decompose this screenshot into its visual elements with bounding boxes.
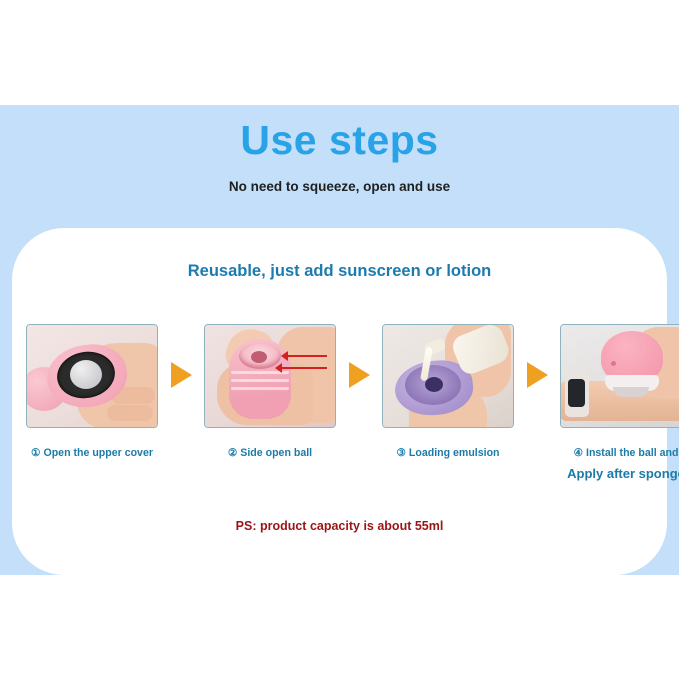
body-stripe	[231, 387, 289, 390]
step-4-illustration	[561, 325, 679, 427]
arrow-right-icon	[527, 362, 548, 388]
header-section: Use steps No need to squeeze, open and u…	[0, 105, 679, 225]
poster-root: Use steps No need to squeeze, open and u…	[0, 0, 679, 679]
step-1: ① Open the upper cover	[26, 324, 158, 461]
arrow-1	[158, 324, 204, 426]
steps-row: ① Open the upper cover	[26, 324, 653, 484]
step-1-caption: ① Open the upper cover	[31, 446, 153, 461]
sponge-shape	[613, 387, 649, 397]
step-4-photo	[560, 324, 679, 428]
page-subtitle: No need to squeeze, open and use	[0, 163, 679, 194]
red-arrow-icon	[281, 367, 327, 369]
step-1-illustration	[27, 325, 157, 427]
logo-dot-shape	[611, 361, 616, 366]
steps-card: Reusable, just add sunscreen or lotion ①	[12, 228, 667, 575]
arrow-3	[514, 324, 560, 426]
step-2-photo	[204, 324, 336, 428]
step-2-illustration	[205, 325, 335, 427]
step-4-caption-line2: Apply after sponge	[567, 465, 679, 484]
step-2: ② Side open ball	[204, 324, 336, 461]
step-3: ③ Loading emulsion	[382, 324, 514, 461]
arrow-right-icon	[171, 362, 192, 388]
arrow-2	[336, 324, 382, 426]
center-hole-shape	[425, 377, 443, 392]
step-3-caption: ③ Loading emulsion	[396, 446, 499, 461]
step-4-caption: ④ Install the ball and Apply after spong…	[567, 446, 679, 484]
step-1-photo	[26, 324, 158, 428]
red-arrow-icon	[287, 355, 327, 357]
step-2-caption: ② Side open ball	[228, 446, 312, 461]
step-4: ④ Install the ball and Apply after spong…	[560, 324, 679, 484]
step-3-photo	[382, 324, 514, 428]
section-heading: Reusable, just add sunscreen or lotion	[12, 262, 667, 281]
ps-note: PS: product capacity is about 55ml	[12, 519, 667, 533]
step-4-caption-line1: ④ Install the ball and	[574, 447, 679, 459]
inner-opening-shape	[251, 351, 267, 363]
arrow-right-icon	[349, 362, 370, 388]
finger-shape	[107, 405, 153, 421]
step-3-illustration	[383, 325, 513, 427]
page-title: Use steps	[0, 105, 679, 163]
roller-ball-shape	[70, 360, 102, 389]
body-stripe	[231, 379, 289, 382]
watch-face-shape	[568, 379, 585, 407]
